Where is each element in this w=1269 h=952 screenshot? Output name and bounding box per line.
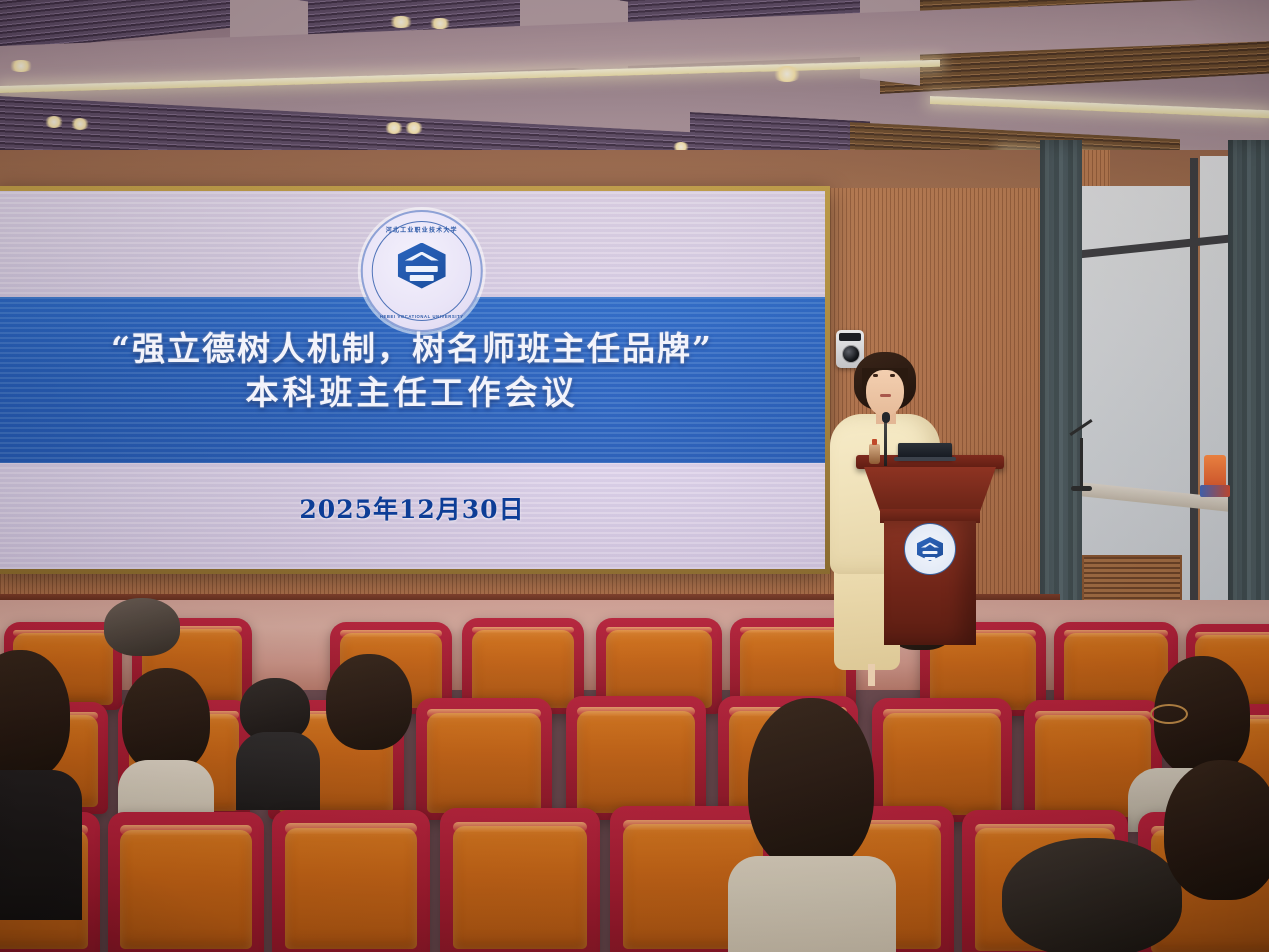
audience-member — [0, 650, 80, 890]
ceiling-spotlight — [70, 118, 90, 130]
ceiling-spotlight — [428, 18, 452, 29]
seat[interactable] — [872, 698, 1012, 822]
slide-title: “强立德树人机制，树名师班主任品牌” 本科班主任工作会议 — [0, 327, 825, 415]
slide-title-line2: 本科班主任工作会议 — [0, 371, 825, 415]
ceiling-spotlight — [404, 122, 424, 134]
ceiling-spotlight — [8, 60, 34, 72]
audience-member — [1002, 838, 1182, 952]
speaker-eye-right — [890, 374, 895, 377]
slide-date: 2025年12月30日 — [0, 490, 825, 526]
speaker-eye-left — [873, 374, 878, 377]
microphone-stand-icon — [1080, 438, 1083, 488]
laptop — [898, 443, 952, 459]
audience-member — [104, 598, 180, 660]
emblem-arc-bottom-text: HEBEI VOCATIONAL UNIVERSITY — [363, 314, 481, 319]
slide-title-line1: “强立德树人机制，树名师班主任品牌” — [111, 329, 713, 368]
seat[interactable] — [108, 812, 264, 952]
university-emblem-icon: 河北工业职业技术大学 HEBEI VOCATIONAL UNIVERSITY — [361, 210, 483, 332]
conference-room-photo: 河北工业职业技术大学 HEBEI VOCATIONAL UNIVERSITY “… — [0, 0, 1269, 952]
podium — [862, 455, 998, 645]
speaker-face — [866, 370, 904, 416]
ceiling-spotlight — [772, 66, 802, 82]
window-mullion — [1190, 158, 1198, 620]
speaker-leg — [868, 664, 875, 686]
eyeglasses-icon — [1150, 704, 1188, 724]
podium-emblem-icon — [904, 523, 956, 575]
podium-slant — [864, 467, 996, 511]
emblem-arc-top-text: 河北工业职业技术大学 — [363, 225, 481, 234]
ceiling-spotlight — [388, 16, 414, 28]
audience-member — [240, 678, 314, 798]
audience-member — [742, 698, 880, 952]
seat[interactable] — [566, 696, 706, 820]
ceiling-led-strip — [930, 96, 1269, 118]
audience-member — [326, 654, 412, 778]
presentation-screen[interactable]: 河北工业职业技术大学 HEBEI VOCATIONAL UNIVERSITY “… — [0, 186, 830, 574]
seat[interactable] — [272, 810, 430, 952]
audience-member — [1164, 760, 1269, 952]
water-bottle — [869, 444, 880, 464]
ceiling-spotlight — [44, 116, 64, 128]
auditorium-seating — [0, 560, 1269, 952]
audience-member — [118, 668, 214, 818]
microphone-icon — [884, 420, 887, 466]
seat[interactable] — [440, 808, 600, 952]
ceiling-spotlight — [384, 122, 404, 134]
windowsill-object — [1204, 455, 1226, 489]
speaker-mouth — [880, 394, 891, 397]
seat[interactable] — [416, 698, 552, 820]
